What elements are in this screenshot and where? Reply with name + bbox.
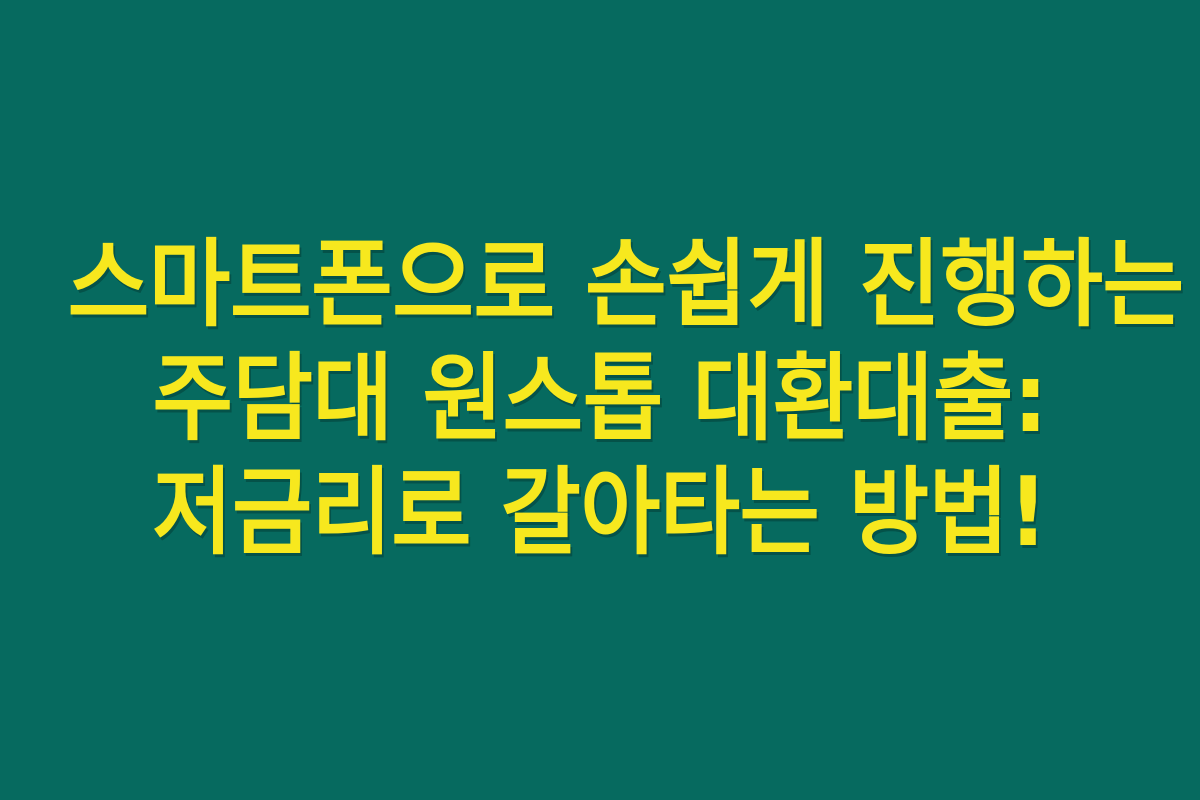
poster-canvas: 스마트폰으로 손쉽게 진행하는 주담대 원스톱 대환대출: 저금리로 갈아타는 …	[0, 0, 1200, 800]
headline-line-2: 주담대 원스톱 대환대출:	[75, 342, 1125, 456]
headline-line-3: 저금리로 갈아타는 방법!	[78, 456, 1122, 570]
headline-block: 스마트폰으로 손쉽게 진행하는 주담대 원스톱 대환대출: 저금리로 갈아타는 …	[30, 228, 1170, 570]
headline-line-1: 스마트폰으로 손쉽게 진행하는	[68, 228, 1133, 342]
